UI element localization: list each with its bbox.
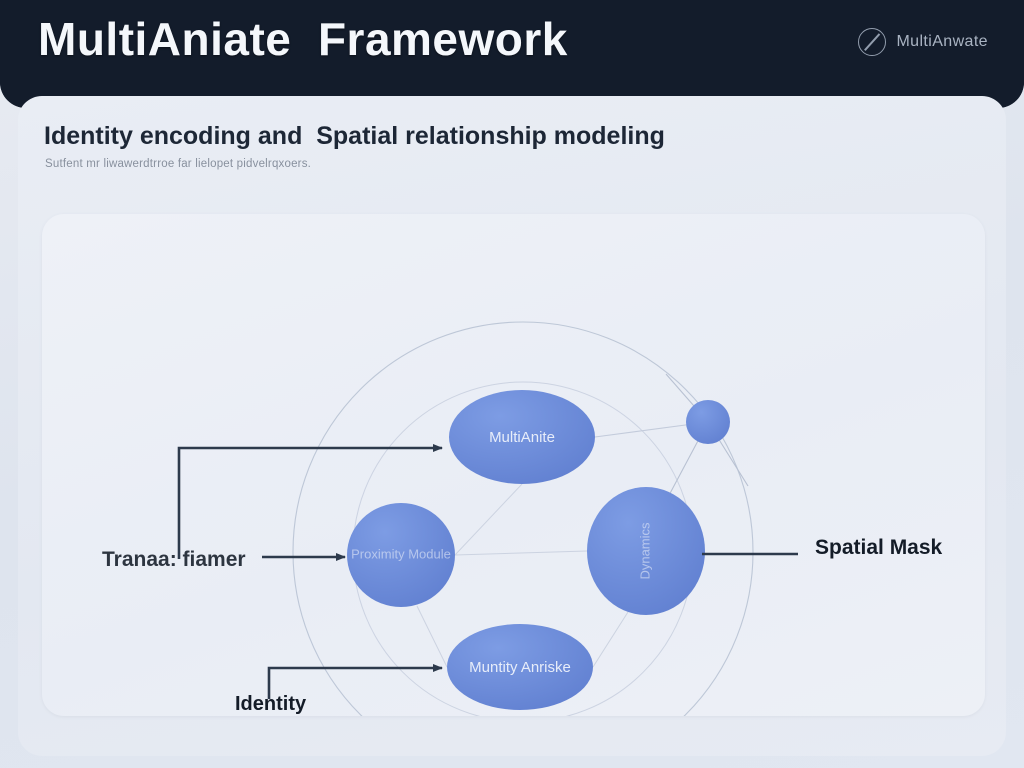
app-root: MultiAniate Framework MultiAnwate Identi… — [0, 0, 1024, 768]
brand-logo: MultiAnwate — [858, 28, 988, 56]
diagram-card: MultiAnite Proximity Module Dynamics Mun… — [42, 214, 985, 716]
header-bar: MultiAniate Framework MultiAnwate — [0, 0, 1024, 108]
connector-proximity-dynamics — [455, 551, 587, 555]
callout-identity-encoder-line1: Identity — [235, 693, 307, 715]
node-orbit-top-right[interactable] — [686, 400, 730, 444]
content-panel: Identity encoding and Spatial relationsh… — [18, 96, 1006, 756]
page-title: MultiAniate Framework — [38, 12, 568, 66]
circle-slash-icon — [858, 28, 886, 56]
brand-name-label: MultiAnwate — [896, 33, 988, 51]
section-heading: Identity encoding and Spatial relationsh… — [44, 122, 665, 151]
node-proximity-label: Proximity Module — [351, 546, 451, 561]
callout-transformer-label: Tranaa: fiamer — [102, 548, 246, 571]
connector-multianite-proximity — [455, 484, 522, 555]
node-dynamics-label: Dynamics — [637, 522, 652, 580]
node-multianite-label: MultiAnite — [489, 429, 555, 446]
node-identity-anriske-label: Muntity Anriske — [469, 659, 571, 676]
architecture-diagram: MultiAnite Proximity Module Dynamics Mun… — [42, 214, 985, 716]
section-subtext: Sutfent mr liwawerdtrroe far lielopet pi… — [45, 158, 311, 170]
connector-identity-dynamics — [593, 612, 628, 667]
callout-spatial-mask-label: Spatial Mask — [815, 536, 943, 559]
connector-identity-proximity — [417, 606, 447, 667]
